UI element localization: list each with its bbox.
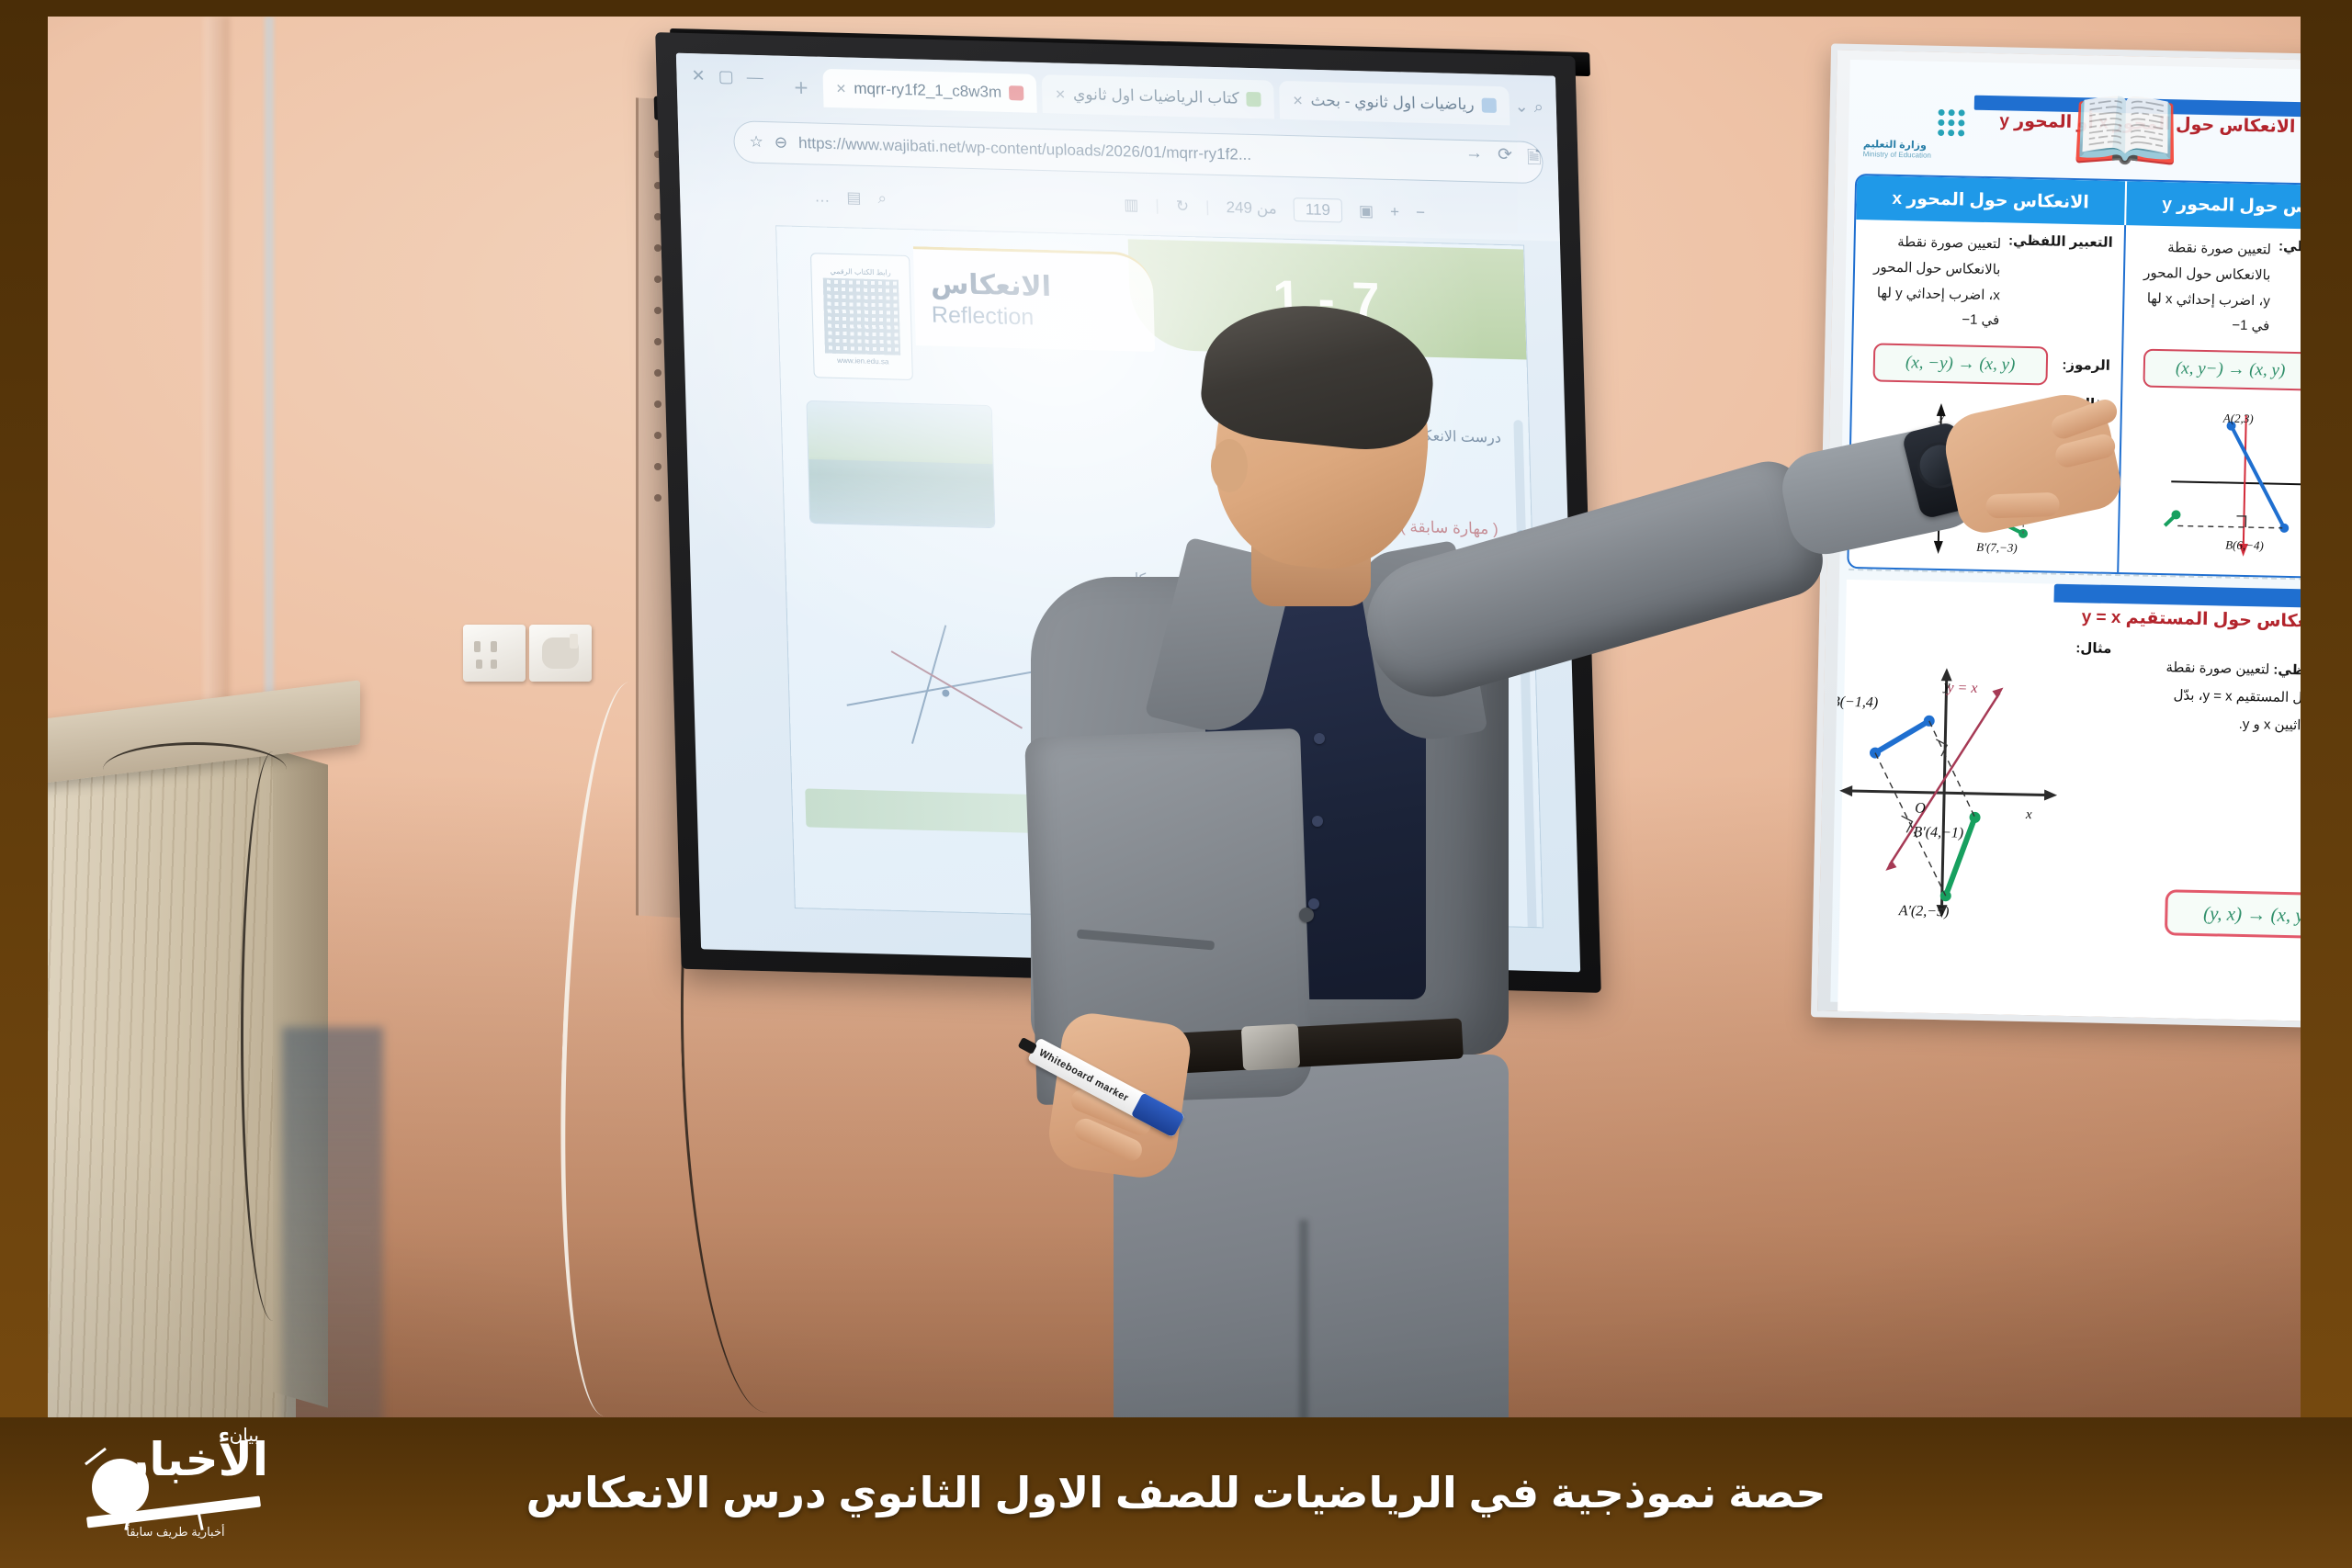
svg-text:O: O <box>1915 801 1926 817</box>
lake-reflection-photo <box>807 401 994 527</box>
tab-close-icon[interactable]: ✕ <box>1055 86 1066 102</box>
svg-text:B′(7,−3): B′(7,−3) <box>1976 540 2018 555</box>
pdf-search-icon[interactable]: ⌕ <box>877 189 887 208</box>
tab-search-icon[interactable]: ⌕ <box>1533 97 1543 117</box>
verbal-text-x: لتعيين صورة نقطة بالانعكاس حول المحور x،… <box>1865 229 2002 333</box>
qr-code-block[interactable]: رابط الكتاب الرقمي www.ien.edu.sa <box>810 253 913 380</box>
label-verbal-y: التعبير اللفظي: <box>2277 238 2301 342</box>
tab-close-icon[interactable]: ✕ <box>1293 93 1304 108</box>
svg-text:B(−1,4): B(−1,4) <box>1833 694 1879 711</box>
photo-stage: ✕ ▢ — ⌕ ⌄ رياضيات اول ثانوي - بحث ✕ <box>0 0 2352 1568</box>
pdf-layout-icon[interactable]: ▥ <box>1124 196 1139 214</box>
ministry-logo: وزارة التعليم Ministry of Education <box>1863 107 1965 160</box>
index-finger <box>2048 396 2120 442</box>
open-book-emblem-icon: 📖 <box>2070 86 2182 176</box>
browser-tab-3[interactable]: mqrr-ry1f2_1_c8w3m ✕ <box>822 69 1037 113</box>
caption-bar: حصة نموذجية في الرياضيات للصف الاول الثا… <box>0 1417 2352 1568</box>
tab-list-chevron-icon[interactable]: ⌄ <box>1514 96 1529 116</box>
svg-text:A′(2,−5): A′(2,−5) <box>1897 903 1949 919</box>
tab-close-icon[interactable]: ✕ <box>835 81 846 96</box>
browser-tabstrip[interactable]: ⌕ ⌄ رياضيات اول ثانوي - بحث ✕ كتاب الريا… <box>676 61 1557 131</box>
shirt-button-1 <box>1314 733 1325 744</box>
browser-chrome: ✕ ▢ — ⌕ ⌄ رياضيات اول ثانوي - بحث ✕ <box>676 53 1560 242</box>
wall-power-socket-plugged[interactable] <box>529 625 592 682</box>
qr-label: رابط الكتاب الرقمي <box>830 267 890 277</box>
qr-code-icon <box>823 278 900 355</box>
poster-lower-title: الانعكاس حول المستقيم y = x <box>2081 606 2301 633</box>
black-cable-podium <box>241 751 305 1321</box>
label-example-line: مثال: <box>2075 639 2111 657</box>
teacher-ear <box>1211 439 1248 492</box>
teacher-raised-arm <box>1351 453 1831 712</box>
svg-text:A(−5,2): A(−5,2) <box>1833 738 1837 754</box>
pdf-page-total: من 249 <box>1226 198 1277 218</box>
tab-title: كتاب الرياضيات اول ثانوي <box>1073 85 1239 108</box>
jacket-button-1 <box>1299 908 1314 922</box>
channel-logo: بيان الأخبار أخبارية طريف سابقاً <box>70 1423 281 1551</box>
poster-col-header-x: الانعكاس حول المحور x <box>1856 175 2127 225</box>
pdf-zoom-in-icon[interactable]: + <box>1390 203 1400 221</box>
reload-icon[interactable]: ⟳ <box>1498 144 1513 174</box>
shirt-button-2 <box>1312 816 1323 827</box>
pdf-more-icon[interactable]: … <box>814 187 831 206</box>
trouser-seam <box>1299 1220 1308 1417</box>
thumb <box>1985 492 2060 519</box>
save-pdf-icon[interactable]: 🗎 <box>1527 145 1542 175</box>
formula-y-axis: (x, y) → (−x, y) <box>2143 349 2301 391</box>
bookmark-star-icon[interactable]: ☆ <box>749 133 763 152</box>
lesson-title-arabic: الانعكاس <box>930 267 1051 302</box>
example-graph-y-axis: A(2,3) B(6,−4) B′(−6,−4) x <box>2154 397 2301 566</box>
pdf-toolbar-separator: | <box>1205 198 1210 217</box>
svg-text:A(2,3): A(2,3) <box>2222 411 2254 425</box>
teacher: Whiteboard marker <box>976 301 1830 1417</box>
example-graph-line-yx: y = x B(−1,4) A(−5,2) B′(4,−1) A′(2,−5) … <box>1833 635 2069 942</box>
svg-text:B′(−6,−4): B′(−6,−4) <box>2154 538 2155 552</box>
search-favicon <box>1481 98 1496 113</box>
caption-text: حصة نموذجية في الرياضيات للصف الاول الثا… <box>526 1468 1826 1517</box>
label-symbols-x: الرموز: <box>2062 355 2110 373</box>
poster-lower-verbal-block: التعبير اللفظي: لتعيين صورة نقطة بالانعك… <box>2126 653 2301 741</box>
pdf-favicon <box>1009 85 1023 100</box>
pdf-zoom-out-icon[interactable]: − <box>1416 204 1426 222</box>
reader-mode-icon[interactable]: ⊖ <box>775 133 788 152</box>
ministry-dots-icon <box>1863 107 1965 136</box>
formula-x-axis: (x, y) → (x, −y) <box>1872 343 2048 385</box>
wall-power-outlet[interactable] <box>463 625 526 682</box>
logo-tagline: أخبارية طريف سابقاً <box>126 1525 224 1540</box>
belt-buckle <box>1241 1023 1300 1070</box>
pdf-fit-icon[interactable]: ▣ <box>1359 202 1374 220</box>
svg-text:B′(4,−1): B′(4,−1) <box>1913 824 1963 840</box>
url-text: https://www.wajibati.net/wp-content/uplo… <box>798 134 1528 172</box>
forward-arrow-icon[interactable]: → <box>1465 143 1484 173</box>
pdf-sidebar-icon[interactable]: ▤ <box>846 188 862 207</box>
poster-cell-y-axis: التعبير اللفظي: لتعيين صورة نقطة بالانعك… <box>2119 225 2301 580</box>
verbal-text-y: لتعيين صورة نقطة بالانعكاس حول المحور y،… <box>2135 234 2272 339</box>
shirt-button-3 <box>1308 898 1319 909</box>
logo-pin-stick <box>85 1448 107 1466</box>
book-favicon <box>1246 92 1261 107</box>
new-tab-button[interactable]: + <box>785 73 818 102</box>
browser-tab-1[interactable]: رياضيات اول ثانوي - بحث ✕ <box>1279 81 1510 126</box>
poster-lower-blue-bar <box>2053 584 2301 609</box>
pdf-toolbar-separator-2: | <box>1155 197 1159 215</box>
logo-mark: بيان الأخبار <box>79 1435 272 1530</box>
pdf-rotate-icon[interactable]: ↻ <box>1176 197 1190 216</box>
qr-caption: www.ien.edu.sa <box>837 356 888 366</box>
svg-text:y: y <box>1942 679 1951 694</box>
poster-col-header-y: الانعكاس حول المحور y <box>2126 181 2301 231</box>
svg-text:x: x <box>2025 807 2032 822</box>
poster-lower-section: الانعكاس حول المستقيم y = x التعبير اللف… <box>1837 580 2301 1022</box>
browser-nav-icons[interactable]: → ⟳ 🗎 <box>1465 143 1542 175</box>
formula-line-yx: (x, y) → (y, x) <box>2165 889 2301 939</box>
tab-title: mqrr-ry1f2_1_c8w3m <box>854 80 1001 102</box>
label-verbal-x: التعبير اللفظي: <box>2007 232 2113 336</box>
pdf-page-input[interactable]: 119 <box>1293 197 1342 222</box>
ministry-name-en: Ministry of Education <box>1863 150 1964 160</box>
logo-main-word: الأخبار <box>123 1437 268 1483</box>
black-cable-top <box>103 742 287 797</box>
browser-tab-2[interactable]: كتاب الرياضيات اول ثانوي ✕ <box>1042 74 1275 119</box>
svg-text:B(6,−4): B(6,−4) <box>2225 538 2264 553</box>
tab-title: رياضيات اول ثانوي - بحث <box>1310 92 1475 115</box>
photograph: ✕ ▢ — ⌕ ⌄ رياضيات اول ثانوي - بحث ✕ <box>48 17 2301 1417</box>
label-verbal-line: التعبير اللفظي: <box>2273 662 2301 680</box>
